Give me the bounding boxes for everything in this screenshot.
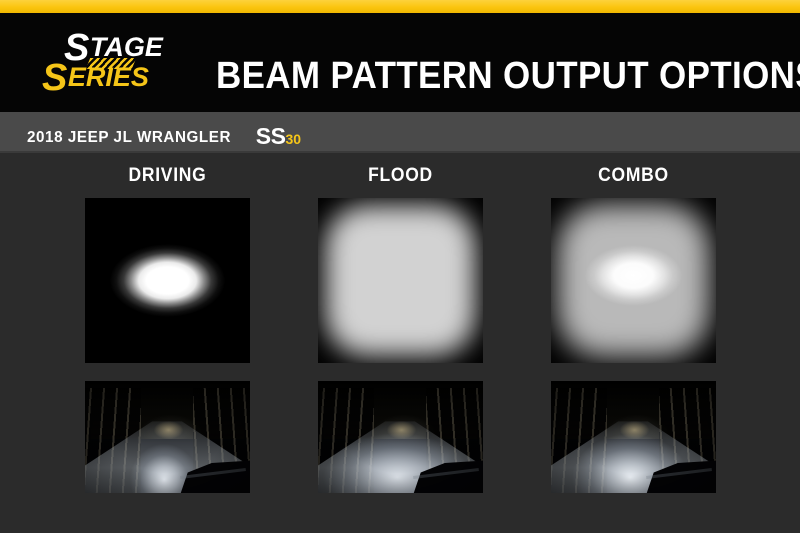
photo-vignette	[85, 381, 250, 493]
combo-beam-pattern	[551, 198, 716, 363]
combo-road-photo	[551, 381, 716, 493]
product-model: SS30	[256, 125, 301, 148]
driving-night-scene	[85, 381, 250, 493]
stage-series-logo: STAGE SERIES	[36, 21, 196, 105]
photo-vignette	[551, 381, 716, 493]
beam-columns: DRIVING	[0, 153, 800, 493]
logo-series-rest: ERIES	[68, 62, 149, 92]
column-driving: DRIVING	[85, 153, 250, 493]
product-model-prefix: SS	[256, 123, 286, 149]
flood-night-scene	[318, 381, 483, 493]
page-title: BEAM PATTERN OUTPUT OPTIONS	[216, 57, 800, 95]
page-header: STAGE SERIES BEAM PATTERN OUTPUT OPTIONS	[0, 13, 800, 112]
column-title-driving: DRIVING	[91, 153, 243, 198]
beam-pattern-infographic: STAGE SERIES BEAM PATTERN OUTPUT OPTIONS…	[0, 0, 800, 533]
top-accent-bar	[0, 0, 800, 13]
column-combo: COMBO	[551, 153, 716, 493]
flood-road-photo	[318, 381, 483, 493]
photo-vignette	[318, 381, 483, 493]
logo-line-series: SERIES	[42, 59, 149, 97]
combo-night-scene	[551, 381, 716, 493]
flood-beam-spread	[318, 198, 483, 363]
vehicle-subheader-content: 2018 JEEP JL WRANGLER SS30	[27, 123, 301, 147]
vehicle-subheader-bar: 2018 JEEP JL WRANGLER SS30	[0, 112, 800, 153]
column-flood: FLOOD	[318, 153, 483, 493]
column-title-combo: COMBO	[557, 153, 709, 198]
vehicle-name: 2018 JEEP JL WRANGLER	[27, 129, 231, 147]
combo-beam-hotspot	[551, 198, 716, 363]
flood-beam-pattern	[318, 198, 483, 363]
driving-road-photo	[85, 381, 250, 493]
product-model-number: 30	[285, 131, 301, 147]
column-title-flood: FLOOD	[324, 153, 476, 198]
beam-comparison-section: DRIVING	[0, 153, 800, 533]
logo-series-capital: S	[42, 57, 68, 99]
driving-beam-hotspot	[85, 198, 250, 363]
driving-beam-pattern	[85, 198, 250, 363]
